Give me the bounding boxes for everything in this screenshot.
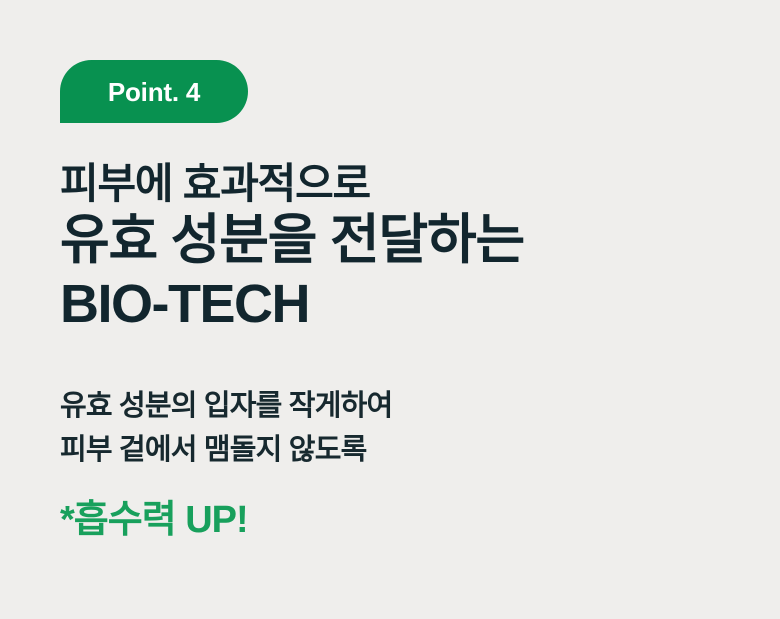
promo-card: Point. 4 피부에 효과적으로 유효 성분을 전달하는 BIO-TECH … (0, 0, 780, 619)
headline-line-1: 피부에 효과적으로 (60, 159, 780, 209)
body-copy: 유효 성분의 입자를 작게하여 피부 겉에서 맴돌지 않도록 (60, 384, 780, 472)
headline: 피부에 효과적으로 유효 성분을 전달하는 BIO-TECH (60, 159, 780, 338)
headline-line-3: BIO-TECH (60, 272, 780, 338)
body-line-1: 유효 성분의 입자를 작게하여 (60, 384, 780, 428)
headline-line-2: 유효 성분을 전달하는 (60, 209, 780, 273)
body-line-2: 피부 겉에서 맴돌지 않도록 (60, 428, 780, 472)
point-badge: Point. 4 (60, 60, 248, 123)
accent-line: *흡수력 UP! (60, 498, 780, 544)
badge-row: Point. 4 (60, 60, 780, 123)
